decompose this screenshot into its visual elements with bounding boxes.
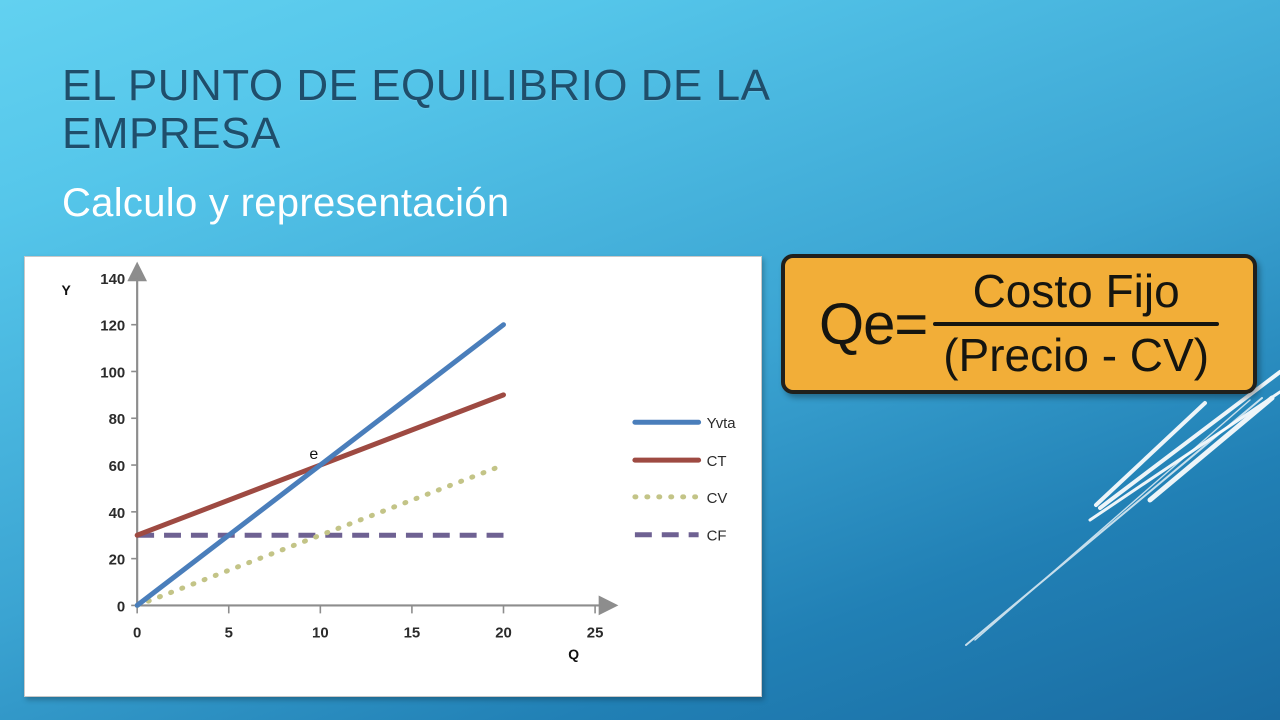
y-tick-20: 20 <box>109 552 126 569</box>
break-even-chart: 0 20 40 60 80 100 120 140 0 5 10 15 20 2… <box>25 257 761 696</box>
series-line-yvta <box>137 325 503 606</box>
formula-callout: Qe= Costo Fijo (Precio - CV) <box>781 254 1257 394</box>
y-tick-60: 60 <box>109 458 126 475</box>
title-block: EL PUNTO DE EQUILIBRIO DE LA EMPRESA Cal… <box>62 62 822 225</box>
y-tick-120: 120 <box>100 318 125 335</box>
x-tick-15: 15 <box>404 624 421 641</box>
legend-label-ct: CT <box>707 453 727 470</box>
legend-item-yvta: Yvta <box>635 415 736 432</box>
page-subtitle: Calculo y representación <box>62 181 822 225</box>
x-axis-tick-labels: 0 5 10 15 20 25 <box>133 624 603 641</box>
y-tick-140: 140 <box>100 271 125 288</box>
y-axis-tick-labels: 0 20 40 60 80 100 120 140 <box>100 271 125 616</box>
equilibrium-point-label: e <box>309 446 318 463</box>
legend-item-ct: CT <box>635 453 727 470</box>
legend-item-cf: CF <box>635 528 727 545</box>
formula-lhs: Qe= <box>819 291 927 358</box>
y-axis-label: Y <box>62 282 72 298</box>
x-tick-25: 25 <box>587 624 604 641</box>
legend-item-cv: CV <box>635 490 727 507</box>
formula-numerator: Costo Fijo <box>933 266 1219 318</box>
x-tick-0: 0 <box>133 624 141 641</box>
x-axis-label: Q <box>568 646 579 662</box>
x-tick-10: 10 <box>312 624 329 641</box>
chart-legend: Yvta CT CV CF <box>635 415 736 544</box>
formula-fraction-bar <box>933 322 1219 326</box>
y-tick-40: 40 <box>109 505 126 522</box>
x-tick-20: 20 <box>495 624 512 641</box>
legend-label-cf: CF <box>707 528 727 545</box>
legend-label-cv: CV <box>707 490 728 507</box>
chart-panel: 0 20 40 60 80 100 120 140 0 5 10 15 20 2… <box>24 256 762 697</box>
formula-denominator: (Precio - CV) <box>933 330 1219 382</box>
y-tick-80: 80 <box>109 411 126 428</box>
x-tick-5: 5 <box>225 624 233 641</box>
y-tick-100: 100 <box>100 364 125 381</box>
y-tick-0: 0 <box>117 598 125 615</box>
formula-fraction: Costo Fijo (Precio - CV) <box>933 266 1219 381</box>
page-title: EL PUNTO DE EQUILIBRIO DE LA EMPRESA <box>62 62 822 159</box>
legend-label-yvta: Yvta <box>707 415 737 432</box>
x-axis-ticks <box>137 605 595 613</box>
